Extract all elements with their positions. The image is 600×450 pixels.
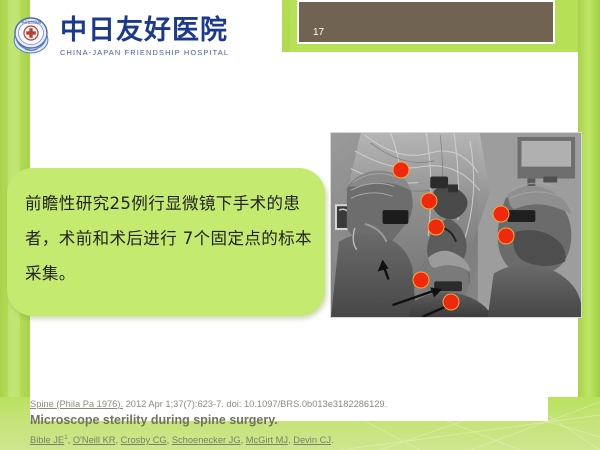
hospital-name-english: CHINA-JAPAN FRIENDSHIP HOSPITAL [60, 48, 229, 57]
author-1[interactable]: Bible JE [30, 435, 64, 445]
sample-point-5 [499, 229, 514, 244]
author-3[interactable]: Crosby CG [121, 435, 167, 445]
author-1-affiliation[interactable]: 1 [64, 434, 68, 441]
sample-point-1 [394, 162, 409, 177]
callout-bubble: 前瞻性研究25例行显微镜下手术的患者，术前和术后进行 7个固定点的标本采集。 [7, 168, 325, 316]
sample-point-7 [444, 295, 459, 310]
sample-point-3 [429, 219, 444, 234]
sample-point-4 [494, 206, 509, 221]
author-5[interactable]: McGirt MJ [246, 435, 288, 445]
callout-text: 前瞻性研究25例行显微镜下手术的患者，术前和术后进行 7个固定点的标本采集。 [25, 186, 313, 291]
citation-authors: Bible JE1, O'Neill KR, Crosby CG, Schoen… [30, 431, 578, 447]
surgery-photo [330, 132, 582, 318]
svg-text:中日友好医院: 中日友好医院 [21, 20, 42, 25]
citation-block: Spine (Phila Pa 1976). 2012 Apr 1;37(7):… [30, 398, 578, 447]
slide-number-plate: 17 [297, 0, 555, 44]
sample-point-2 [421, 194, 436, 209]
hospital-logo-text: 中日友好医院 CHINA-JAPAN FRIENDSHIP HOSPITAL [60, 17, 229, 57]
surgery-photo-image [331, 133, 581, 317]
citation-title: Microscope sterility during spine surger… [30, 412, 578, 429]
hospital-logo: 中日友好医院 中日友好医院 CHINA-JAPAN FRIENDSHIP HOS… [8, 8, 248, 66]
hospital-crest-icon: 中日友好医院 [8, 13, 54, 61]
slide-number: 17 [313, 28, 324, 38]
citation-journal[interactable]: Spine (Phila Pa 1976). [30, 399, 123, 409]
citation-details: 2012 Apr 1;37(7):623-7. doi: 10.1097/BRS… [123, 399, 387, 409]
citation-source-line: Spine (Phila Pa 1976). 2012 Apr 1;37(7):… [30, 398, 578, 411]
author-2[interactable]: O'Neill KR [73, 435, 116, 445]
sample-point-6 [414, 273, 429, 288]
author-4[interactable]: Schoenecker JG [172, 435, 241, 445]
presentation-slide: 中日友好医院 中日友好医院 CHINA-JAPAN FRIENDSHIP HOS… [0, 0, 600, 450]
hospital-name-chinese: 中日友好医院 [60, 17, 229, 45]
author-6[interactable]: Devin CJ [293, 435, 331, 445]
